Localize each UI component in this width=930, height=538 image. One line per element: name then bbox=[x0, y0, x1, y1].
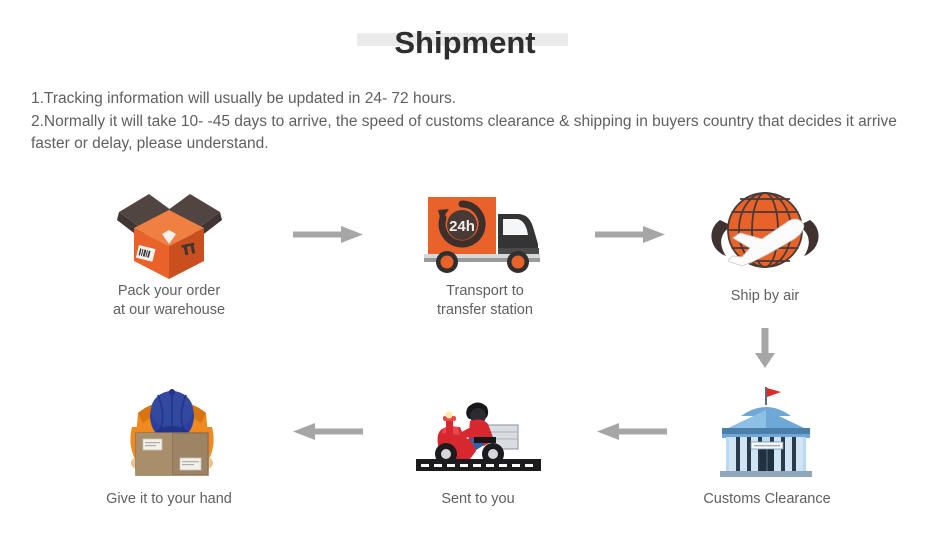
step-pack-order-caption: Pack your order at our warehouse bbox=[54, 282, 284, 320]
page-title: Shipment bbox=[394, 22, 535, 64]
step-give-to-hand-caption: Give it to your hand bbox=[54, 490, 284, 509]
step-sent-to-you-icon bbox=[416, 385, 541, 480]
step-give-to-hand-icon bbox=[120, 383, 225, 480]
arrow-pack-to-transport bbox=[293, 225, 363, 250]
arrow-customs-to-sent bbox=[597, 422, 667, 447]
arrow-left-icon bbox=[597, 422, 667, 442]
courier-with-package-icon bbox=[120, 383, 225, 480]
caption-line: Ship by air bbox=[650, 287, 880, 306]
caption-line: Customs Clearance bbox=[652, 490, 882, 509]
steps-grid: Pack your order at our warehouse bbox=[0, 170, 930, 538]
caption-line: at our warehouse bbox=[54, 301, 284, 320]
step-transport-icon: 24h bbox=[421, 182, 545, 280]
scooter-courier-icon bbox=[416, 385, 541, 480]
arrow-transport-to-air bbox=[595, 225, 665, 250]
step-sent-to-you-caption: Sent to you bbox=[363, 490, 593, 509]
delivery-truck-icon: 24h bbox=[421, 182, 545, 280]
step-transport-caption: Transport to transfer station bbox=[370, 282, 600, 320]
caption-line: Sent to you bbox=[363, 490, 593, 509]
open-box-icon bbox=[112, 182, 227, 280]
shipping-note-1: 1.Tracking information will usually be u… bbox=[31, 88, 901, 111]
caption-line: Give it to your hand bbox=[54, 490, 284, 509]
arrow-sent-to-hand bbox=[293, 422, 363, 447]
truck-badge-text: 24h bbox=[449, 218, 475, 235]
step-ship-by-air-icon bbox=[706, 182, 824, 280]
step-pack-order-icon bbox=[112, 182, 227, 280]
arrow-air-to-customs bbox=[753, 328, 777, 373]
step-customs-caption: Customs Clearance bbox=[652, 490, 882, 509]
arrow-right-icon bbox=[595, 225, 665, 245]
page-title-wrap: Shipment bbox=[0, 22, 930, 64]
globe-airplane-icon bbox=[706, 182, 824, 280]
shipment-infographic: Shipment 1.Tracking information will usu… bbox=[0, 0, 930, 538]
arrow-left-icon bbox=[293, 422, 363, 442]
step-ship-by-air-caption: Ship by air bbox=[650, 287, 880, 306]
caption-line: Transport to bbox=[370, 282, 600, 301]
shipping-notes: 1.Tracking information will usually be u… bbox=[31, 88, 901, 156]
arrow-down-icon bbox=[753, 328, 777, 368]
step-customs-icon bbox=[710, 385, 822, 480]
arrow-right-icon bbox=[293, 225, 363, 245]
shipping-note-2: 2.Normally it will take 10- -45 days to … bbox=[31, 111, 901, 156]
caption-line: Pack your order bbox=[54, 282, 284, 301]
customs-building-icon bbox=[710, 385, 822, 480]
caption-line: transfer station bbox=[370, 301, 600, 320]
